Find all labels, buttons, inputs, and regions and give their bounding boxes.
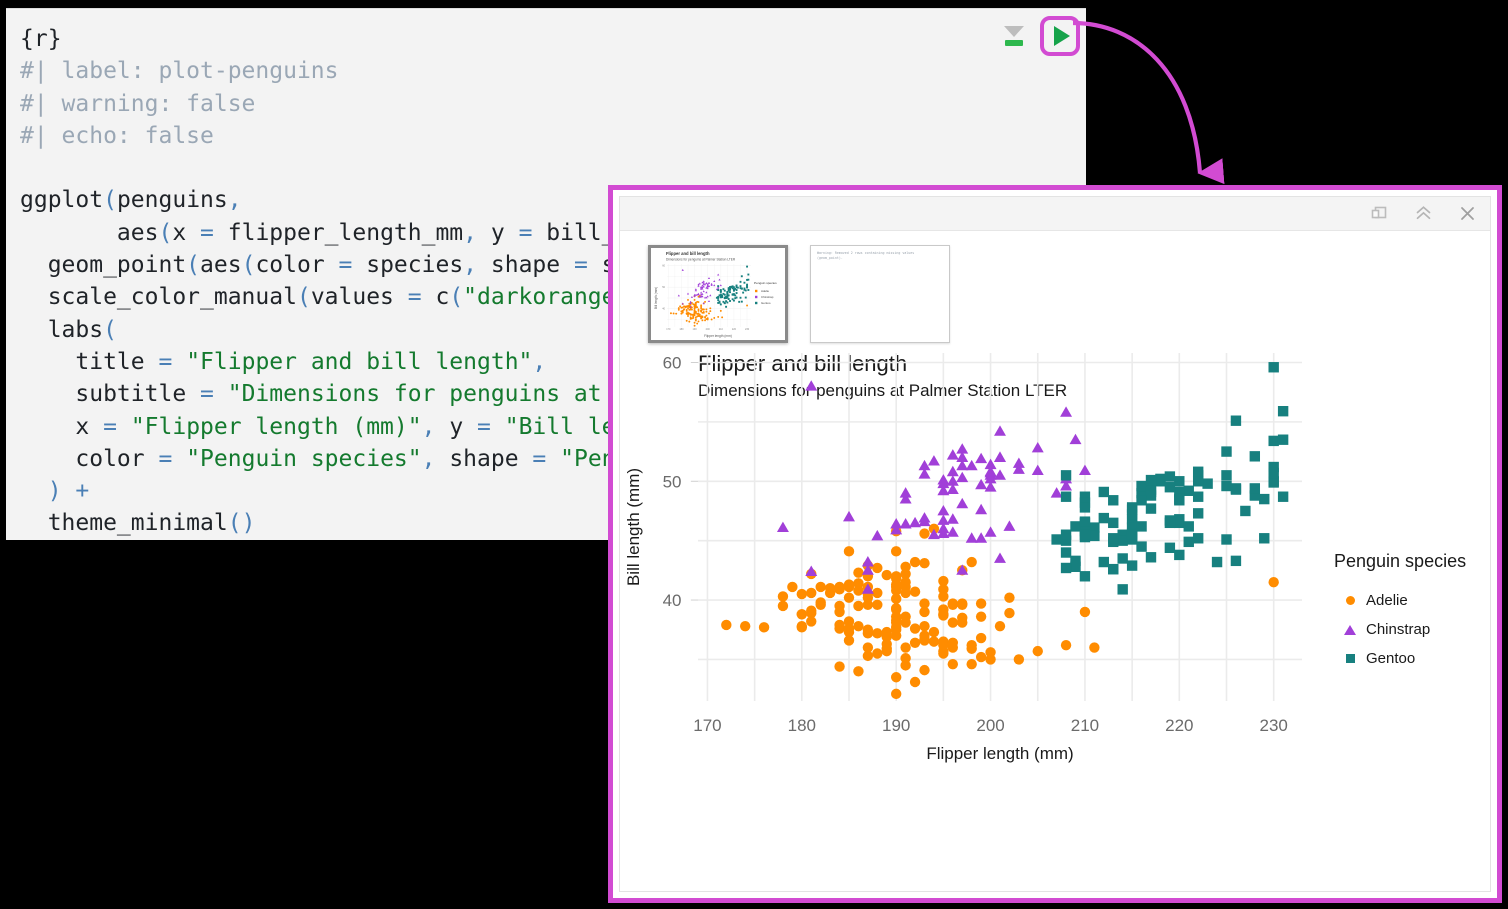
data-point xyxy=(882,570,892,580)
data-point xyxy=(1061,547,1071,557)
data-point xyxy=(700,304,702,306)
data-point xyxy=(675,313,677,315)
x-tick-label: 230 xyxy=(1260,716,1288,735)
data-point xyxy=(747,279,749,281)
data-point xyxy=(698,320,700,322)
data-point xyxy=(686,310,688,312)
data-point xyxy=(863,625,873,635)
svg-text:Dimensions for penguins at Pal: Dimensions for penguins at Palmer Statio… xyxy=(666,257,736,261)
data-point xyxy=(1268,362,1278,372)
data-point xyxy=(742,292,744,294)
data-point xyxy=(1117,535,1127,545)
data-point xyxy=(694,299,696,301)
data-point xyxy=(725,300,727,302)
data-point xyxy=(1032,465,1044,475)
data-point xyxy=(891,546,901,556)
svg-text:Flipper and bill length: Flipper and bill length xyxy=(666,251,710,256)
data-point xyxy=(728,290,730,292)
data-point xyxy=(1278,492,1288,502)
data-point xyxy=(844,592,854,602)
data-point xyxy=(1080,530,1090,540)
data-point xyxy=(720,303,722,305)
x-axis-label: Flipper length (mm) xyxy=(926,744,1073,763)
data-point xyxy=(1221,481,1231,491)
data-point xyxy=(709,310,711,312)
data-point xyxy=(891,585,901,595)
data-point xyxy=(679,305,681,307)
data-point xyxy=(690,313,692,315)
data-point xyxy=(721,316,723,318)
svg-text:60: 60 xyxy=(662,265,665,268)
run-above-bar xyxy=(1005,40,1023,46)
data-point xyxy=(698,315,700,317)
data-point xyxy=(948,600,958,610)
data-point xyxy=(844,627,854,637)
popout-icon[interactable] xyxy=(1371,205,1388,222)
data-point xyxy=(957,598,967,608)
data-point xyxy=(708,313,710,315)
data-point xyxy=(720,310,722,312)
data-point xyxy=(1240,506,1250,516)
plot-legend: Penguin species AdelieChinstrapGentoo xyxy=(1334,551,1491,673)
legend-row-gentoo: Gentoo xyxy=(1334,644,1491,673)
thumbnail-warning-text: Warning: Removed 2 rows containing missi… xyxy=(817,251,944,261)
data-point xyxy=(976,633,986,643)
data-point xyxy=(844,582,854,592)
data-point xyxy=(966,659,976,669)
data-point xyxy=(684,306,686,308)
close-icon[interactable] xyxy=(1459,205,1476,222)
data-point xyxy=(919,528,929,538)
data-point xyxy=(929,627,939,637)
data-point xyxy=(687,307,689,309)
data-point xyxy=(928,455,940,465)
data-point xyxy=(1193,508,1203,518)
run-chunk-button[interactable] xyxy=(1040,16,1080,56)
data-point xyxy=(994,552,1006,562)
data-point xyxy=(872,628,882,638)
data-point xyxy=(724,297,726,299)
data-point xyxy=(1117,553,1127,563)
data-point xyxy=(1221,446,1231,456)
data-point xyxy=(872,648,882,658)
data-point xyxy=(1184,537,1194,547)
data-point xyxy=(700,316,702,318)
data-point xyxy=(777,522,789,532)
data-point xyxy=(1212,557,1222,567)
data-point xyxy=(937,505,949,515)
data-point xyxy=(746,305,748,307)
data-point xyxy=(740,297,742,299)
data-point xyxy=(966,640,976,650)
data-point xyxy=(699,282,701,284)
data-point xyxy=(1146,475,1156,485)
data-point xyxy=(705,315,707,317)
data-point xyxy=(1033,646,1043,656)
data-point xyxy=(720,284,722,286)
svg-text:Penguin species: Penguin species xyxy=(754,281,777,285)
data-point xyxy=(805,566,817,576)
data-point xyxy=(834,620,844,630)
legend-row-adelie: Adelie xyxy=(1334,586,1491,615)
data-point xyxy=(725,306,727,308)
data-point xyxy=(740,281,742,283)
data-point xyxy=(1268,468,1278,478)
data-point xyxy=(736,286,738,288)
data-point xyxy=(825,583,835,593)
data-point xyxy=(956,498,968,508)
data-point xyxy=(720,296,722,298)
data-point xyxy=(736,297,738,299)
legend-marker-triangle-icon xyxy=(1334,625,1366,635)
data-point xyxy=(778,601,788,611)
data-point xyxy=(1080,607,1090,617)
data-point xyxy=(745,297,747,299)
marker-glyph xyxy=(1346,654,1355,663)
data-point xyxy=(1061,470,1071,480)
data-point xyxy=(691,296,693,298)
data-point xyxy=(698,301,700,303)
series-chinstrap xyxy=(777,380,1091,593)
data-point xyxy=(1099,487,1109,497)
data-point xyxy=(746,266,748,268)
data-point xyxy=(882,646,892,656)
data-point xyxy=(1193,533,1203,543)
data-point xyxy=(1032,442,1044,452)
data-point xyxy=(1268,436,1278,446)
data-point xyxy=(701,319,703,321)
data-point xyxy=(1184,486,1194,496)
x-tick-label: 210 xyxy=(1071,716,1099,735)
data-point xyxy=(1221,470,1231,480)
data-point xyxy=(713,284,715,286)
data-point xyxy=(747,289,749,291)
data-point xyxy=(694,312,696,314)
thumbnail-console-output[interactable]: Warning: Removed 2 rows containing missi… xyxy=(810,245,950,343)
data-point xyxy=(778,591,788,601)
viewer-panel-inner: Flipper and bill lengthDimensions for pe… xyxy=(619,196,1491,892)
data-point xyxy=(682,302,684,304)
data-point xyxy=(740,285,742,287)
data-point xyxy=(1231,484,1241,494)
data-point xyxy=(736,289,738,291)
data-point xyxy=(797,609,807,619)
data-point xyxy=(743,288,745,290)
data-point xyxy=(670,312,672,314)
data-point xyxy=(733,289,735,291)
data-point xyxy=(806,616,816,626)
data-point xyxy=(1278,435,1288,445)
data-point xyxy=(1004,592,1014,602)
data-point xyxy=(709,307,711,309)
data-point xyxy=(1108,495,1118,505)
data-point xyxy=(1259,533,1269,543)
data-point xyxy=(1014,654,1024,664)
data-point xyxy=(722,293,724,295)
data-point xyxy=(843,511,855,521)
data-point xyxy=(1136,495,1146,505)
data-point xyxy=(694,322,696,324)
data-point xyxy=(900,487,912,497)
data-point xyxy=(703,311,705,313)
data-point xyxy=(747,274,749,276)
data-point xyxy=(938,576,948,586)
data-point xyxy=(717,296,719,298)
data-point xyxy=(705,291,707,293)
data-point xyxy=(853,568,863,578)
legend-entries: AdelieChinstrapGentoo xyxy=(1334,586,1491,673)
svg-text:Adelie: Adelie xyxy=(761,289,769,293)
data-point xyxy=(692,317,694,319)
output-thumbnail-strip: Flipper and bill lengthDimensions for pe… xyxy=(620,231,1490,343)
series-adelie xyxy=(721,524,1279,699)
data-point xyxy=(703,290,705,292)
data-point xyxy=(717,274,719,276)
data-point xyxy=(705,282,707,284)
data-point xyxy=(708,300,710,302)
data-point xyxy=(910,623,920,633)
svg-text:Gentoo: Gentoo xyxy=(761,301,771,305)
legend-label: Chinstrap xyxy=(1366,621,1430,638)
data-point xyxy=(919,665,929,675)
data-point xyxy=(900,582,910,592)
data-point xyxy=(910,587,920,597)
data-point xyxy=(871,530,883,540)
data-point xyxy=(872,563,882,573)
data-point xyxy=(1174,494,1184,504)
data-point xyxy=(872,600,882,610)
data-point xyxy=(698,308,700,310)
data-point xyxy=(948,659,958,669)
data-point xyxy=(1051,534,1061,544)
data-point xyxy=(720,294,722,296)
data-point xyxy=(900,518,912,528)
data-point xyxy=(704,301,706,303)
data-point xyxy=(722,288,724,290)
data-point xyxy=(741,301,743,303)
data-point xyxy=(1278,406,1288,416)
data-point xyxy=(900,653,910,663)
data-point xyxy=(1193,492,1203,502)
data-point xyxy=(919,512,931,522)
data-point xyxy=(683,309,685,311)
data-point xyxy=(1061,640,1071,650)
run-all-above-icon[interactable] xyxy=(1001,23,1027,49)
legend-label: Adelie xyxy=(1366,592,1408,609)
data-point xyxy=(882,627,892,637)
data-point xyxy=(697,293,699,295)
x-tick-label: 200 xyxy=(976,716,1004,735)
data-point xyxy=(1089,531,1099,541)
data-point xyxy=(853,578,863,588)
data-point xyxy=(797,622,807,632)
series-chinstrap xyxy=(678,269,722,308)
data-point xyxy=(711,319,713,321)
data-point xyxy=(732,285,734,287)
data-point xyxy=(741,275,743,277)
data-point xyxy=(1127,560,1137,570)
marker-glyph xyxy=(1344,625,1356,635)
data-point xyxy=(844,546,854,556)
data-point xyxy=(994,425,1006,435)
data-point xyxy=(929,636,939,646)
data-point xyxy=(834,607,844,617)
data-point xyxy=(720,291,722,293)
chunk-toolbar xyxy=(1001,19,1080,53)
data-point xyxy=(1099,557,1109,567)
data-point xyxy=(1080,516,1090,526)
data-point xyxy=(717,289,719,291)
data-point xyxy=(700,309,702,311)
data-point xyxy=(1268,577,1278,587)
data-point xyxy=(1221,534,1231,544)
data-point xyxy=(1079,465,1091,475)
thumbnail-plot[interactable]: Flipper and bill lengthDimensions for pe… xyxy=(648,245,788,343)
data-point xyxy=(947,526,959,536)
data-point xyxy=(717,316,719,318)
data-point xyxy=(743,282,745,284)
data-point xyxy=(1250,483,1260,493)
data-point xyxy=(966,532,978,542)
data-point xyxy=(733,300,735,302)
data-point xyxy=(1070,521,1080,531)
viewer-panel: Flipper and bill lengthDimensions for pe… xyxy=(608,185,1502,903)
data-point xyxy=(705,308,707,310)
data-point xyxy=(682,312,684,314)
data-point xyxy=(957,613,967,623)
legend-title: Penguin species xyxy=(1334,551,1491,572)
data-point xyxy=(890,518,902,528)
data-point xyxy=(1146,490,1156,500)
data-point xyxy=(910,638,920,648)
x-tick-label: 170 xyxy=(693,716,721,735)
data-point xyxy=(724,302,726,304)
data-point xyxy=(1080,502,1090,512)
data-point xyxy=(729,286,731,288)
data-point xyxy=(1060,406,1072,416)
data-point xyxy=(872,588,882,598)
data-point xyxy=(678,307,680,309)
data-point xyxy=(919,635,929,645)
data-point xyxy=(734,294,736,296)
data-point xyxy=(947,449,959,459)
data-point xyxy=(717,302,719,304)
data-point xyxy=(746,286,748,288)
data-point xyxy=(696,306,698,308)
data-point xyxy=(1061,563,1071,573)
series-gentoo xyxy=(1051,362,1288,595)
data-point xyxy=(1127,509,1137,519)
data-point xyxy=(947,466,959,476)
svg-text:Bill length (mm): Bill length (mm) xyxy=(654,287,658,309)
data-point xyxy=(1051,487,1063,497)
x-tick-label: 190 xyxy=(882,716,910,735)
data-point xyxy=(1089,642,1099,652)
data-point xyxy=(708,282,710,284)
data-point xyxy=(863,642,873,652)
data-point xyxy=(1165,543,1175,553)
data-point xyxy=(834,584,844,594)
data-point xyxy=(806,588,816,598)
data-point xyxy=(687,314,689,316)
data-point xyxy=(732,287,734,289)
data-point xyxy=(708,277,710,279)
data-point xyxy=(678,309,680,311)
y-tick-label: 50 xyxy=(663,472,682,491)
data-point xyxy=(736,285,738,287)
data-point xyxy=(975,504,987,514)
data-point xyxy=(797,589,807,599)
data-point xyxy=(1174,514,1184,524)
data-point xyxy=(1061,530,1071,540)
data-point xyxy=(746,285,748,287)
data-point xyxy=(1080,571,1090,581)
data-point xyxy=(736,292,738,294)
data-point xyxy=(1146,552,1156,562)
data-point xyxy=(1136,481,1146,491)
data-point xyxy=(718,279,720,281)
data-point xyxy=(726,296,728,298)
data-point xyxy=(1268,477,1278,487)
data-point xyxy=(695,318,697,320)
data-point xyxy=(741,288,743,290)
data-point xyxy=(678,295,680,297)
y-tick-label: 40 xyxy=(663,591,682,610)
data-point xyxy=(1155,474,1165,484)
data-point xyxy=(985,647,995,657)
data-point xyxy=(707,317,709,319)
data-point xyxy=(975,453,987,463)
data-point xyxy=(1165,471,1175,481)
data-point xyxy=(995,621,1005,631)
data-point xyxy=(976,652,986,662)
collapse-chevron-up-icon[interactable] xyxy=(1414,204,1433,223)
data-point xyxy=(1070,434,1082,444)
data-point xyxy=(688,305,690,307)
data-point xyxy=(694,325,696,327)
data-point xyxy=(891,689,901,699)
data-point xyxy=(1165,482,1175,492)
data-point xyxy=(696,323,698,325)
data-point xyxy=(853,601,863,611)
svg-text:40: 40 xyxy=(662,308,665,311)
data-point xyxy=(948,617,958,627)
data-point xyxy=(1250,451,1260,461)
data-point xyxy=(1165,518,1175,528)
data-point xyxy=(707,295,709,297)
legend-label: Gentoo xyxy=(1366,650,1415,667)
data-point xyxy=(726,292,728,294)
data-point xyxy=(805,380,817,390)
data-point xyxy=(891,617,901,627)
data-point xyxy=(695,288,697,290)
legend-marker-square-icon xyxy=(1334,654,1366,663)
data-point xyxy=(976,598,986,608)
data-point xyxy=(1117,584,1127,594)
plot-output: Flipper and bill length Dimensions for p… xyxy=(620,331,1490,891)
data-point xyxy=(690,316,692,318)
data-point xyxy=(1136,521,1146,531)
data-point xyxy=(1061,492,1071,502)
data-point xyxy=(700,292,702,294)
data-point xyxy=(713,280,715,282)
y-tick-label: 60 xyxy=(663,354,682,373)
data-point xyxy=(900,617,910,627)
data-point xyxy=(705,311,707,313)
data-point xyxy=(938,604,948,614)
series-adelie xyxy=(670,295,748,327)
data-point xyxy=(1108,533,1118,543)
